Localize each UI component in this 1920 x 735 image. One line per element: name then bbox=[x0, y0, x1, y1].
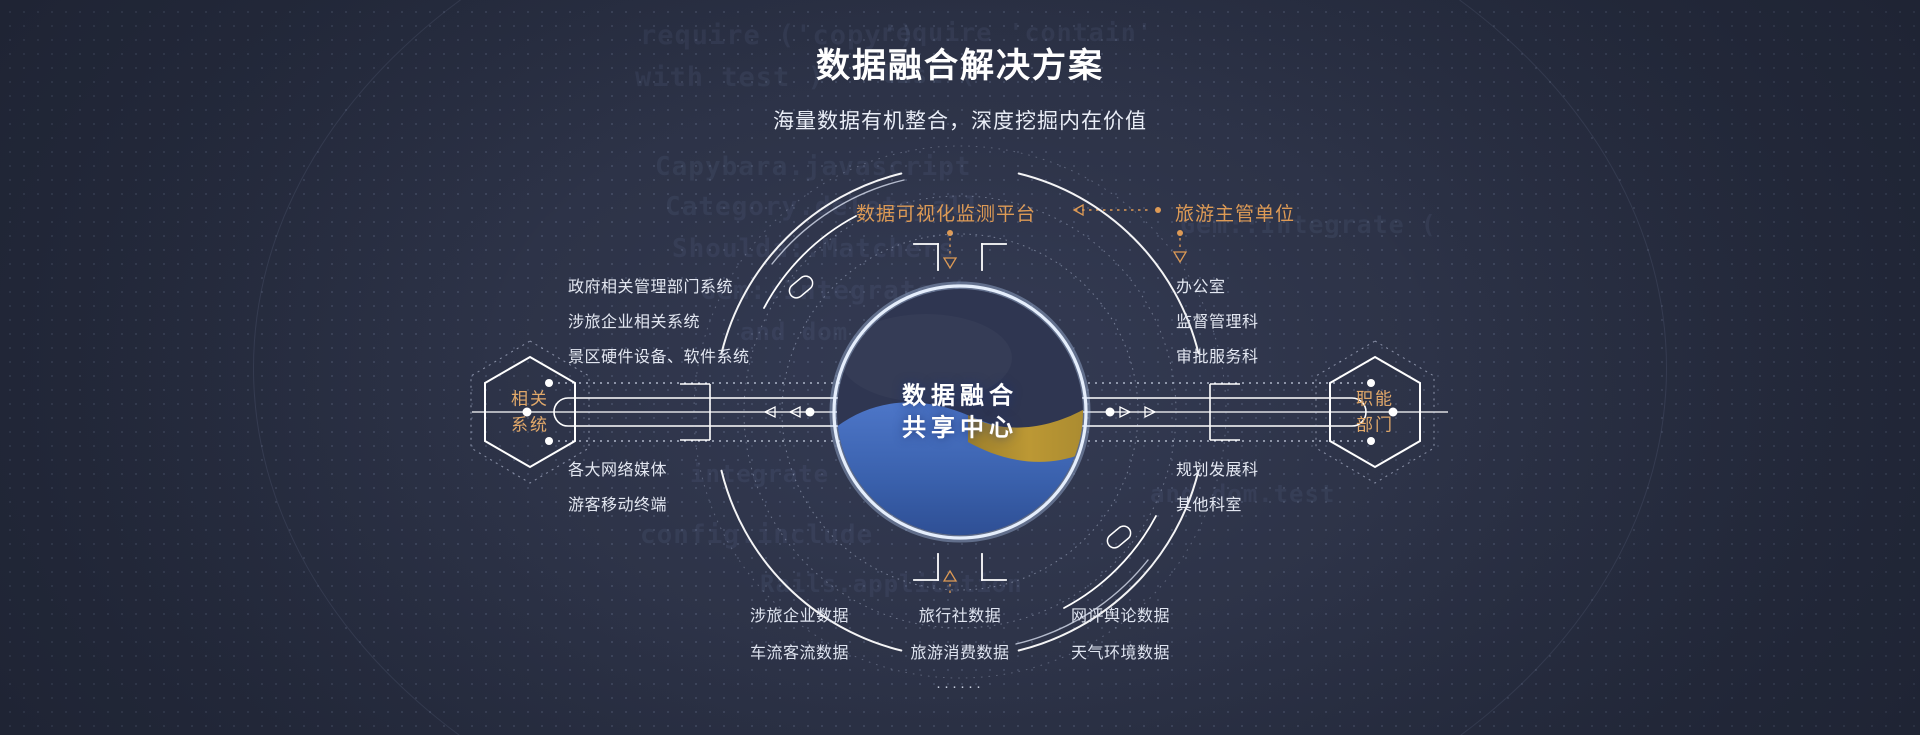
hexagon-right-line1: 职能 bbox=[1356, 390, 1394, 409]
list-item[interactable]: 办公室 bbox=[1176, 270, 1259, 305]
list-item[interactable]: 规划发展科 bbox=[1176, 453, 1259, 488]
hexagon-left-line2: 系统 bbox=[511, 415, 549, 434]
data-source-item[interactable]: 涉旅企业数据 bbox=[750, 598, 849, 635]
list-item[interactable]: 景区硬件设备、软件系统 bbox=[568, 340, 750, 375]
data-source-ellipsis: ······ bbox=[750, 678, 1170, 695]
list-item[interactable]: 各大网络媒体 bbox=[568, 453, 667, 488]
table-row: 车流客流数据 旅游消费数据 天气环境数据 bbox=[750, 635, 1170, 672]
hexagon-right-label: 职能 部门 bbox=[1310, 387, 1440, 438]
hexagon-functional-departments[interactable]: 职能 部门 bbox=[1310, 337, 1440, 487]
data-source-item[interactable]: 旅行社数据 bbox=[919, 598, 1002, 635]
hexagon-left-label: 相关 系统 bbox=[465, 387, 595, 438]
list-item[interactable]: 政府相关管理部门系统 bbox=[568, 270, 750, 305]
hexagon-right-line2: 部门 bbox=[1356, 415, 1394, 434]
right-upper-list: 办公室 监督管理科 审批服务科 bbox=[1176, 270, 1259, 375]
right-lower-list: 规划发展科 其他科室 bbox=[1176, 453, 1259, 523]
list-item[interactable]: 其他科室 bbox=[1176, 488, 1259, 523]
list-item[interactable]: 游客移动终端 bbox=[568, 488, 667, 523]
bottom-data-sources: 涉旅企业数据 旅行社数据 网评舆论数据 车流客流数据 旅游消费数据 天气环境数据… bbox=[750, 598, 1170, 695]
data-source-item[interactable]: 车流客流数据 bbox=[750, 635, 849, 672]
diagram-canvas: require ('copy') require 'contain' with … bbox=[0, 0, 1920, 735]
page-subtitle: 海量数据有机整合，深度挖掘内在价值 bbox=[0, 105, 1920, 135]
hexagon-left-line1: 相关 bbox=[511, 390, 549, 409]
left-upper-list: 政府相关管理部门系统 涉旅企业相关系统 景区硬件设备、软件系统 bbox=[568, 270, 750, 375]
list-item[interactable]: 涉旅企业相关系统 bbox=[568, 305, 750, 340]
page-title: 数据融合解决方案 bbox=[0, 38, 1920, 87]
table-row: 涉旅企业数据 旅行社数据 网评舆论数据 bbox=[750, 598, 1170, 635]
data-source-item[interactable]: 旅游消费数据 bbox=[910, 635, 1009, 672]
list-item[interactable]: 审批服务科 bbox=[1176, 340, 1259, 375]
left-lower-list: 各大网络媒体 游客移动终端 bbox=[568, 453, 667, 523]
list-item[interactable]: 监督管理科 bbox=[1176, 305, 1259, 340]
data-source-item[interactable]: 天气环境数据 bbox=[1071, 635, 1170, 672]
data-source-item[interactable]: 网评舆论数据 bbox=[1071, 598, 1170, 635]
